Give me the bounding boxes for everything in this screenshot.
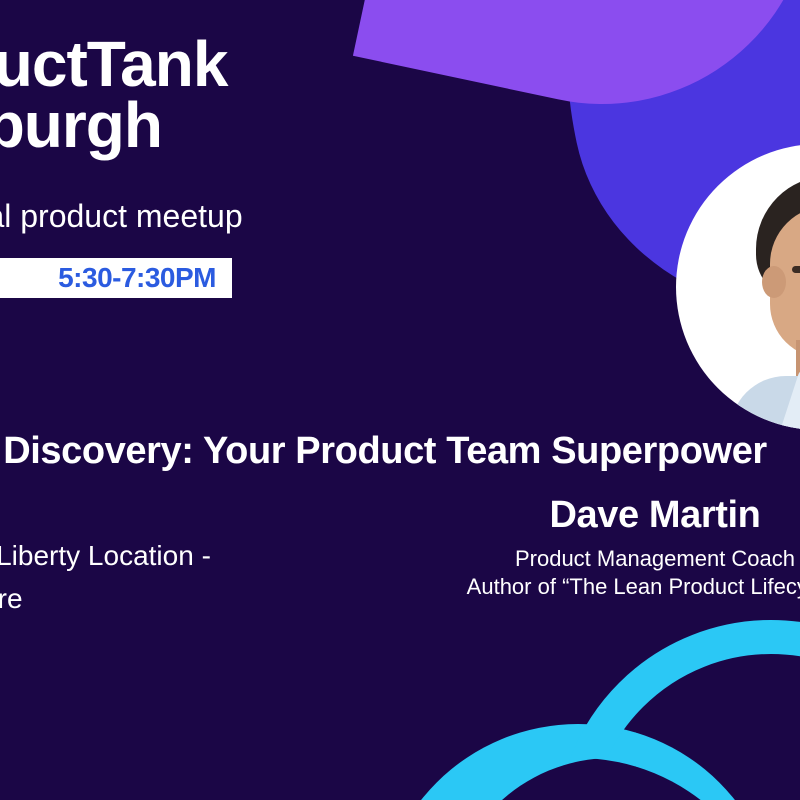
brand-subtitle: Your local product meetup [0, 198, 243, 235]
ring-disc-notch-shape [556, 620, 800, 800]
topic-headline: Continuous Discovery: Your Product Team … [0, 430, 767, 473]
speaker-role: Product Management Coach [440, 545, 800, 573]
venue-line-2: 6 Bakery Square [0, 577, 211, 620]
brand-line-2: Pittsburgh [0, 95, 227, 156]
time-badge: 5:30-7:30PM [0, 258, 232, 298]
brand-title: ProductTank Pittsburgh [0, 34, 227, 157]
venue-block: Duolingo East Liberty Location - 6 Baker… [0, 534, 211, 621]
portrait-eye-left [792, 266, 800, 273]
venue-line-1: Duolingo East Liberty Location - [0, 534, 211, 577]
portrait-illustration [722, 162, 800, 430]
speaker-book: Author of “The Lean Product Lifecycle” [440, 573, 800, 601]
avatar [676, 144, 800, 430]
purple-petal-shape [353, 0, 800, 143]
event-poster: ProductTank Pittsburgh Your local produc… [0, 0, 800, 800]
cyan-disc-shape [378, 724, 778, 800]
speaker-name: Dave Martin [440, 494, 800, 537]
cyan-ring-shape [556, 620, 800, 800]
time-badge-text: 5:30-7:30PM [58, 262, 216, 294]
speaker-block: Dave Martin Product Management Coach Aut… [440, 494, 800, 601]
portrait-ear [762, 266, 786, 298]
